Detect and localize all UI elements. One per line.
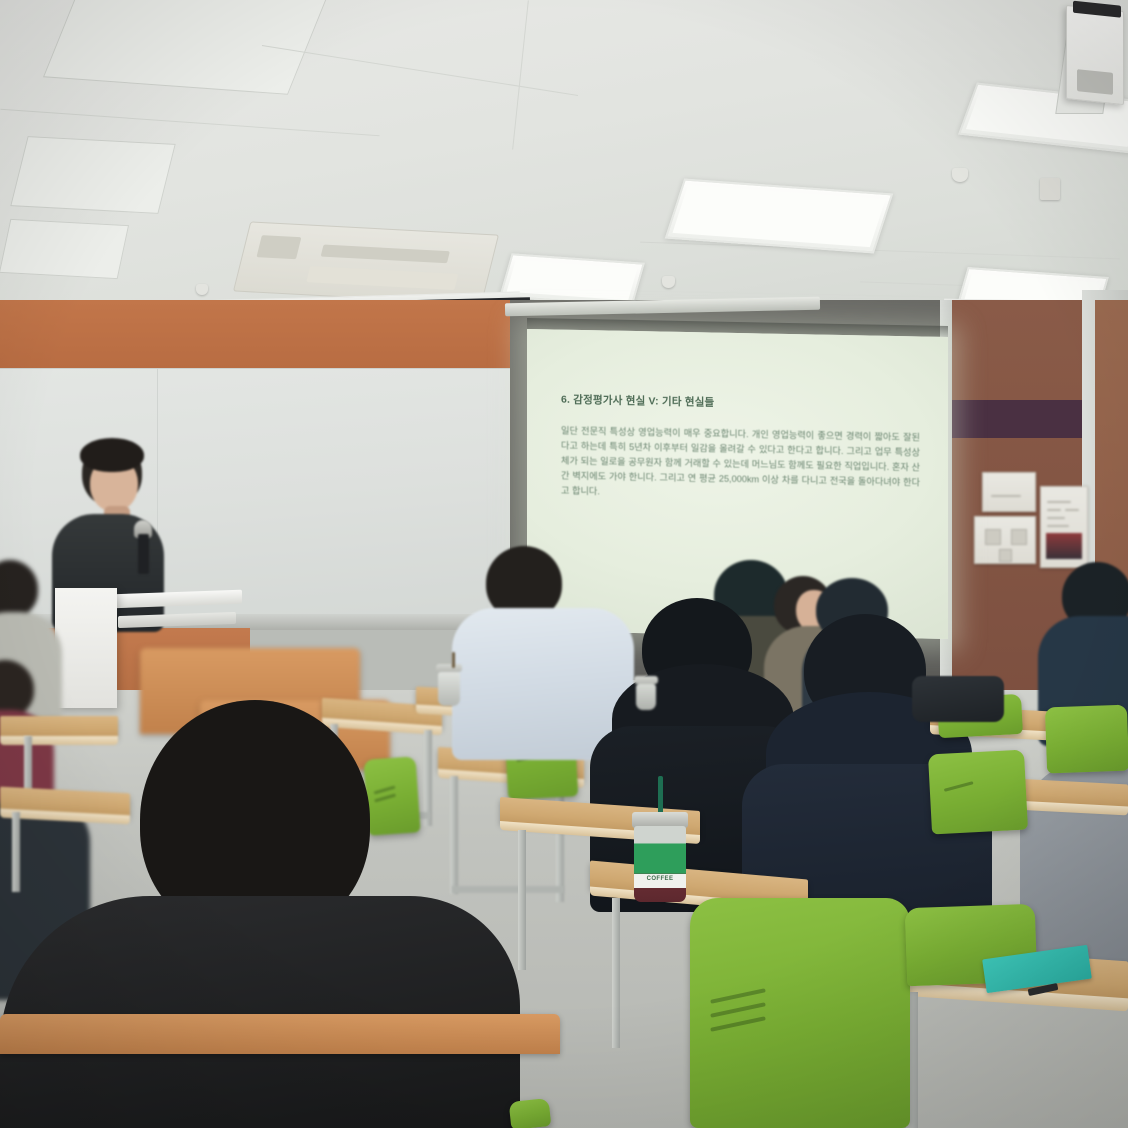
chair (1045, 705, 1128, 774)
icon-notice (974, 516, 1036, 564)
drink-cup (438, 664, 460, 706)
bag (912, 676, 1004, 722)
cup-label: COFFEE (634, 876, 686, 882)
chair (509, 1098, 552, 1128)
presenter-hair (80, 438, 144, 472)
fire-sprinkler (196, 284, 208, 295)
slide-content: 6. 감정평가사 현실 V: 기타 현실들 일단 전문직 특성상 영업능력이 매… (561, 392, 920, 505)
audience-torso (0, 896, 520, 1128)
fire-sprinkler (952, 168, 968, 182)
chair (690, 898, 910, 1128)
ceiling (0, 0, 1128, 340)
desk (0, 716, 118, 738)
wall-wood-band-left (0, 300, 535, 370)
fire-sprinkler (1040, 178, 1060, 200)
fire-sprinkler (662, 276, 675, 288)
wood-bench (0, 1014, 560, 1054)
chair (928, 750, 1028, 835)
lecture-hall-photo: 6. 감정평가사 현실 V: 기타 현실들 일단 전문직 특성상 영업능력이 매… (0, 0, 1128, 1128)
microphone-body (138, 534, 149, 574)
drink-cup-coffee: COFFEE (634, 812, 686, 902)
poster-notice (1040, 486, 1088, 568)
ceiling-projector (1066, 5, 1124, 105)
lectern (55, 588, 117, 708)
wall-accent-band (952, 400, 1082, 438)
ceiling-light-fixture (665, 179, 894, 254)
drink-cup (636, 676, 656, 710)
blank-notice (982, 472, 1036, 512)
slide-body: 일단 전문직 특성상 영업능력이 매우 중요합니다. 개인 영업능력이 좋으면 … (561, 424, 920, 505)
chair (363, 756, 420, 835)
